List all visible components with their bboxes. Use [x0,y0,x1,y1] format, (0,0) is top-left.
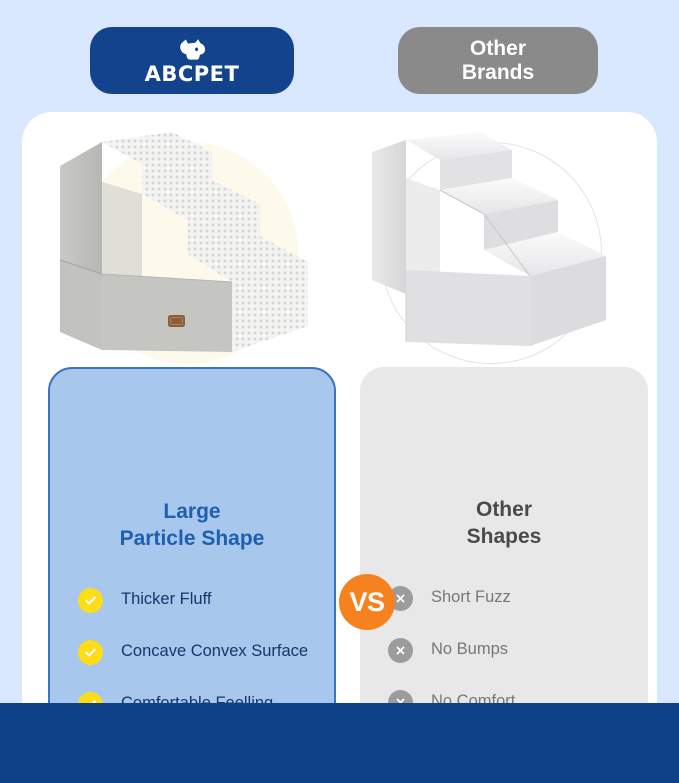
feature-label: Thicker Fluff [121,590,211,610]
brand-chip-abcpet: ABCPET [90,27,294,94]
check-icon [78,640,103,665]
left-panel-title-line2: Particle Shape [50,526,334,553]
feature-label: Concave Convex Surface [121,642,308,662]
header: ABCPET Other Brands [0,0,679,112]
vs-label: VS [349,589,384,616]
other-brands-line2: Brands [462,61,534,85]
abcpet-textured-pet-stairs-image [30,120,330,395]
vs-badge: VS [339,574,395,630]
left-product-stage [30,120,330,395]
right-product-stage [344,120,644,395]
comparison-infographic: ABCPET Other Brands [0,0,679,783]
other-brands-line1: Other [470,37,526,61]
left-panel-title: Large Particle Shape [50,499,334,553]
dog-head-icon [175,39,209,63]
leather-logo-tag [168,315,185,327]
other-brands-chip: Other Brands [398,27,598,94]
brand-wordmark: ABCPET [145,64,240,85]
list-item: Concave Convex Surface [50,626,334,678]
list-item: Short Fuzz [360,572,648,624]
other-brand-plain-foam-stairs-image [344,120,644,395]
right-panel-title-line1: Other [360,497,648,524]
check-icon [78,588,103,613]
list-item: Thicker Fluff [50,574,334,626]
right-panel-title-line2: Shapes [360,524,648,551]
list-item: No Bumps [360,624,648,676]
left-panel-title-line1: Large [50,499,334,526]
comparison-card: Large Particle Shape Thicker Fluff Conca… [22,112,657,750]
bottom-band [0,703,679,783]
right-panel-title: Other Shapes [360,497,648,551]
feature-label: No Bumps [431,640,508,660]
cross-icon [388,638,413,663]
left-comparison-panel: Large Particle Shape Thicker Fluff Conca… [48,367,336,732]
right-comparison-panel: Other Shapes Short Fuzz No Bumps [360,367,648,732]
feature-label: Short Fuzz [431,588,511,608]
